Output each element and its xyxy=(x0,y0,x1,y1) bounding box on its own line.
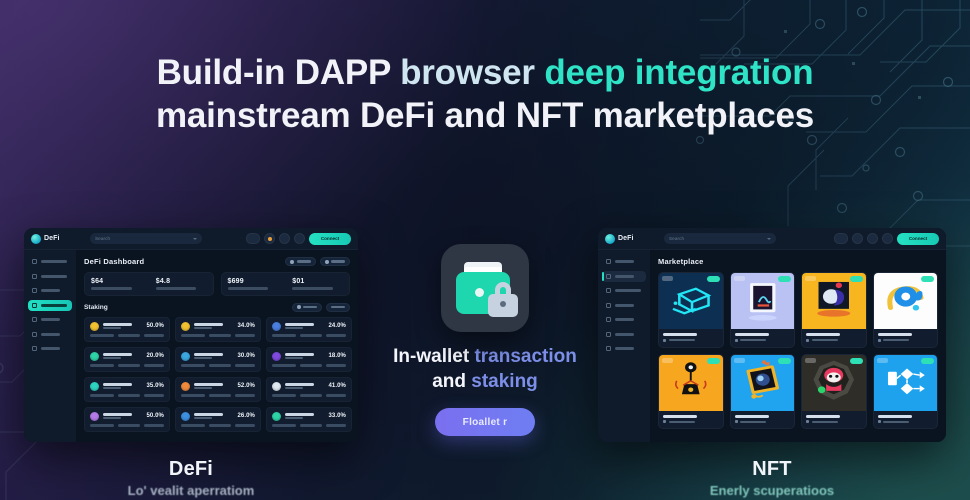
gear-icon[interactable] xyxy=(867,233,878,244)
token-names xyxy=(103,323,143,330)
sidebar-item-icon xyxy=(32,303,37,308)
nft-title xyxy=(735,333,769,336)
wallet-cta-button[interactable]: Floallet r xyxy=(435,408,535,436)
connect-label: Connect xyxy=(321,236,339,241)
token-names xyxy=(285,383,325,390)
staking-card-bottom xyxy=(272,394,346,396)
nft-grid xyxy=(658,272,938,429)
staking-card[interactable]: 35.0% xyxy=(84,377,170,402)
staking-card-bottom xyxy=(90,364,164,366)
staking-card-top: 26.0% xyxy=(181,412,255,421)
defi-body: DeFi Dashboard $64$4.8$699$01 Staking 50… xyxy=(24,250,358,442)
nft-topbar: DeFi Search Connect xyxy=(598,228,946,250)
wallet-clasp-icon xyxy=(475,288,484,297)
center-feature: In-wallet transaction and staking Floall… xyxy=(378,244,592,436)
nft-body: Marketplace xyxy=(598,250,946,442)
defi-sidebar xyxy=(24,250,76,442)
staking-card-bottom xyxy=(272,424,346,426)
sidebar-item-discover[interactable] xyxy=(28,271,72,282)
staking-card-top: 30.0% xyxy=(181,352,255,361)
sidebar-item-label xyxy=(615,275,634,278)
sidebar-item-discover[interactable] xyxy=(602,271,646,282)
nft-subtitle xyxy=(878,420,934,423)
sidebar-item-label xyxy=(615,260,634,263)
brand-name: DeFi xyxy=(44,235,60,242)
headline: Build-in DAPP browser deep integration m… xyxy=(0,52,970,137)
sidebar-item-icon xyxy=(606,288,611,293)
logo-icon xyxy=(31,234,41,244)
staking-card[interactable]: 20.0% xyxy=(84,347,170,372)
search-placeholder: Search xyxy=(95,236,110,241)
stat-item: $01 xyxy=(292,278,343,290)
staking-card-top: 34.0% xyxy=(181,322,255,331)
token-names xyxy=(103,383,143,390)
globe-icon[interactable] xyxy=(852,233,863,244)
sidebar-item-overview[interactable] xyxy=(602,256,646,267)
nft-meta xyxy=(874,329,938,347)
defi-stats: $64$4.8$699$01 xyxy=(84,272,350,296)
nft-subtitle xyxy=(663,420,719,423)
nft-meta xyxy=(731,329,795,347)
token-names xyxy=(194,383,234,390)
staking-card-top: 50.0% xyxy=(90,412,164,421)
token-icon xyxy=(272,352,281,361)
sidebar-item-icon xyxy=(606,346,611,351)
nft-artwork xyxy=(874,273,938,329)
token-icon xyxy=(90,412,99,421)
staking-apy: 20.0% xyxy=(146,353,164,359)
sidebar-item-staking[interactable] xyxy=(28,300,72,311)
staking-card-top: 24.0% xyxy=(272,322,346,331)
staking-apy: 24.0% xyxy=(328,323,346,329)
defi-head-buttons xyxy=(285,257,350,266)
staking-card-bottom xyxy=(90,424,164,426)
search-placeholder: Search xyxy=(669,236,684,241)
nft-type-tag xyxy=(805,276,816,281)
nft-price-badge xyxy=(778,276,791,282)
stat-item: $699 xyxy=(228,278,279,290)
connect-label: Connect xyxy=(909,236,927,241)
connect-wallet-button[interactable]: Connect xyxy=(897,233,939,245)
sidebar-item-icon xyxy=(32,288,37,293)
staking-card[interactable]: 34.0% xyxy=(175,317,261,342)
nft-card[interactable] xyxy=(730,354,796,430)
token-icon xyxy=(181,412,190,421)
sidebar-item-trade[interactable] xyxy=(28,285,72,296)
nft-caption: NFT Enerly scuperatioos xyxy=(598,458,946,498)
nft-subtitle xyxy=(663,339,719,342)
staking-card[interactable]: 18.0% xyxy=(266,347,352,372)
nft-artwork xyxy=(659,273,723,329)
sidebar-item-label xyxy=(615,347,634,350)
sidebar-item-transactions[interactable] xyxy=(28,343,72,354)
defi-search-input[interactable]: Search xyxy=(90,233,202,244)
staking-apy: 35.0% xyxy=(146,383,164,389)
staking-card[interactable]: 26.0% xyxy=(175,407,261,432)
nft-subtitle xyxy=(878,339,934,342)
staking-apy: 30.0% xyxy=(237,353,255,359)
nft-price-badge xyxy=(850,358,863,364)
staking-card-top: 33.0% xyxy=(272,412,346,421)
token-names xyxy=(285,353,325,360)
nft-card[interactable] xyxy=(801,354,867,430)
promo-banner: Build-in DAPP browser deep integration m… xyxy=(0,0,970,500)
token-names xyxy=(285,413,325,420)
sidebar-item-dashboard[interactable] xyxy=(602,300,646,311)
defi-topbar: DeFi Search Connect xyxy=(24,228,358,250)
nft-artwork xyxy=(731,273,795,329)
token-icon xyxy=(181,382,190,391)
nft-title xyxy=(735,415,769,418)
center-caption: In-wallet transaction and staking xyxy=(378,345,592,394)
headline-line-1: Build-in DAPP browser deep integration xyxy=(0,52,970,95)
nft-type-tag xyxy=(877,358,888,363)
staking-card-bottom xyxy=(90,334,164,336)
staking-apy: 18.0% xyxy=(328,353,346,359)
staking-apy: 41.0% xyxy=(328,383,346,389)
nft-title xyxy=(806,415,840,418)
sidebar-item-label xyxy=(41,347,60,350)
chevron-down-icon xyxy=(193,238,197,240)
center-text-in-wallet: In-wallet xyxy=(393,346,474,367)
sidebar-item-label xyxy=(615,289,641,292)
connect-wallet-button[interactable]: Connect xyxy=(309,233,351,245)
nft-marketplace-panel[interactable]: DeFi Search Connect Marketplace xyxy=(598,228,946,442)
defi-section-buttons xyxy=(292,303,351,312)
token-icon xyxy=(181,322,190,331)
defi-section-head: Staking xyxy=(84,303,350,312)
page-title: Marketplace xyxy=(658,257,704,266)
token-icon xyxy=(181,352,190,361)
nft-caption-subtitle: Enerly scuperatioos xyxy=(598,483,946,498)
wallet-cta-label: Floallet r xyxy=(463,417,508,428)
nft-card[interactable] xyxy=(658,272,724,348)
nft-artwork xyxy=(802,355,866,411)
sidebar-item-label xyxy=(41,318,60,321)
token-icon xyxy=(90,352,99,361)
nft-artwork xyxy=(802,273,866,329)
stat-item: $4.8 xyxy=(156,278,207,290)
nft-price-badge xyxy=(921,276,934,282)
nft-price-badge xyxy=(707,276,720,282)
nft-type-tag xyxy=(734,358,745,363)
nft-content-head: Marketplace xyxy=(658,257,938,266)
nft-title xyxy=(806,333,840,336)
nft-content: Marketplace xyxy=(650,250,946,442)
stat-item: $64 xyxy=(91,278,142,290)
staking-card-bottom xyxy=(181,364,255,366)
page-title: DeFi Dashboard xyxy=(84,257,144,266)
staking-card-top: 52.0% xyxy=(181,382,255,391)
defi-brand[interactable]: DeFi xyxy=(31,234,83,244)
staking-apy: 26.0% xyxy=(237,413,255,419)
nft-price-badge xyxy=(778,358,791,364)
nft-meta xyxy=(802,411,866,429)
nft-subtitle xyxy=(735,339,791,342)
defi-topbar-actions: Connect xyxy=(246,233,351,245)
wallet-lock-icon xyxy=(441,244,529,332)
staking-card-bottom xyxy=(181,424,255,426)
defi-content: DeFi Dashboard $64$4.8$699$01 Staking 50… xyxy=(76,250,358,442)
nft-title xyxy=(663,415,697,418)
staking-card-top: 18.0% xyxy=(272,352,346,361)
nft-title xyxy=(878,415,912,418)
sidebar-item-label xyxy=(615,333,634,336)
gear-icon[interactable] xyxy=(279,233,290,244)
menu-icon[interactable] xyxy=(834,233,848,244)
sidebar-item-marketplace[interactable] xyxy=(28,314,72,325)
nft-subtitle xyxy=(806,339,862,342)
chevron-down-icon xyxy=(767,238,771,240)
nft-title xyxy=(663,333,697,336)
sidebar-item-label xyxy=(615,318,634,321)
defi-caption-subtitle: Lo' vealit aperratiom xyxy=(24,483,358,498)
nft-caption-title: NFT xyxy=(598,458,946,481)
staking-card-top: 41.0% xyxy=(272,382,346,391)
nft-title xyxy=(878,333,912,336)
stat-label xyxy=(292,287,333,290)
token-names xyxy=(194,353,234,360)
sort-button[interactable] xyxy=(326,303,350,312)
sidebar-item-collections[interactable] xyxy=(602,314,646,325)
sidebar-item-label xyxy=(41,333,60,336)
sidebar-item-icon xyxy=(606,303,611,308)
nft-topbar-actions: Connect xyxy=(834,233,939,245)
staking-apy: 33.0% xyxy=(328,413,346,419)
token-names xyxy=(194,323,234,330)
lock-keyhole-icon xyxy=(500,301,506,307)
sidebar-item-icon xyxy=(32,274,37,279)
sidebar-item-label xyxy=(615,304,634,307)
center-text-and: and xyxy=(432,371,471,392)
sidebar-item-label xyxy=(41,260,67,263)
token-icon xyxy=(90,382,99,391)
nft-type-tag xyxy=(805,358,816,363)
defi-content-head: DeFi Dashboard xyxy=(84,257,350,266)
nft-subtitle xyxy=(735,420,791,423)
notification-icon[interactable] xyxy=(264,233,275,244)
stat-value: $699 xyxy=(228,278,279,285)
headline-part-deep-integration: deep integration xyxy=(544,53,813,92)
stat-box: $699$01 xyxy=(221,272,351,296)
nft-brand[interactable]: DeFi xyxy=(605,234,657,244)
sidebar-item-icon xyxy=(32,259,37,264)
headline-part-browser: browser xyxy=(400,53,544,92)
staking-apy: 50.0% xyxy=(146,413,164,419)
sidebar-item-icon xyxy=(32,317,37,322)
sidebar-item-icon xyxy=(32,332,37,337)
stat-value: $01 xyxy=(292,278,343,285)
sidebar-item-label xyxy=(41,275,67,278)
stat-value: $4.8 xyxy=(156,278,207,285)
headline-line-2: mainstream DeFi and NFT marketplaces xyxy=(0,95,970,138)
nft-price-badge xyxy=(707,358,720,364)
info-button[interactable] xyxy=(285,257,316,266)
staking-card[interactable]: 24.0% xyxy=(266,317,352,342)
nft-artwork xyxy=(659,355,723,411)
staking-card[interactable]: 41.0% xyxy=(266,377,352,402)
staking-card[interactable]: 50.0% xyxy=(84,407,170,432)
filter-button[interactable] xyxy=(320,257,351,266)
sidebar-item-label xyxy=(41,304,67,307)
staking-card-top: 20.0% xyxy=(90,352,164,361)
defi-caption-title: DeFi xyxy=(24,458,358,481)
nft-type-tag xyxy=(877,276,888,281)
staking-apy: 50.0% xyxy=(146,323,164,329)
token-names xyxy=(285,323,325,330)
staking-card-bottom xyxy=(181,394,255,396)
staking-card[interactable]: 52.0% xyxy=(175,377,261,402)
stat-label xyxy=(156,287,197,290)
staking-card-bottom xyxy=(272,364,346,366)
nft-type-tag xyxy=(662,276,673,281)
token-icon xyxy=(272,412,281,421)
nft-meta xyxy=(659,329,723,347)
logo-icon xyxy=(605,234,615,244)
sidebar-item-my-stats[interactable] xyxy=(602,329,646,340)
nft-artwork xyxy=(731,355,795,411)
staking-card-bottom xyxy=(90,394,164,396)
stat-box: $64$4.8 xyxy=(84,272,214,296)
nft-card[interactable] xyxy=(801,272,867,348)
nft-card[interactable] xyxy=(730,272,796,348)
stat-label xyxy=(228,287,269,290)
token-icon xyxy=(272,382,281,391)
stat-label xyxy=(91,287,132,290)
nft-card[interactable] xyxy=(873,272,939,348)
stat-value: $64 xyxy=(91,278,142,285)
sidebar-item-assets[interactable] xyxy=(602,285,646,296)
nft-meta xyxy=(802,329,866,347)
defi-dashboard-panel[interactable]: DeFi Search Connect DeFi Dashboard xyxy=(24,228,358,442)
staking-grid: 50.0%34.0%24.0%20.0%30.0%18.0%35.0%52.0%… xyxy=(84,317,350,432)
staking-card[interactable]: 30.0% xyxy=(175,347,261,372)
token-icon xyxy=(90,322,99,331)
nft-subtitle xyxy=(806,420,862,423)
nft-meta xyxy=(731,411,795,429)
nft-artwork xyxy=(874,355,938,411)
nft-type-tag xyxy=(662,358,673,363)
sidebar-item-icon xyxy=(606,274,611,279)
nft-meta xyxy=(874,411,938,429)
staking-apy: 34.0% xyxy=(237,323,255,329)
token-names xyxy=(194,413,234,420)
sidebar-item-icon xyxy=(606,317,611,322)
staking-card[interactable]: 33.0% xyxy=(266,407,352,432)
center-text-staking: staking xyxy=(471,371,538,392)
token-names xyxy=(103,353,143,360)
defi-caption: DeFi Lo' vealit aperratiom xyxy=(24,458,358,498)
avatar[interactable] xyxy=(294,233,305,244)
headline-part-build-in: Build-in DAPP xyxy=(157,53,401,92)
avatar[interactable] xyxy=(882,233,893,244)
nft-card[interactable] xyxy=(658,354,724,430)
staking-card-bottom xyxy=(181,334,255,336)
nft-card[interactable] xyxy=(873,354,939,430)
nft-price-badge xyxy=(921,358,934,364)
sidebar-item-icon xyxy=(32,346,37,351)
sidebar-item-overview[interactable] xyxy=(28,256,72,267)
section-title: Staking xyxy=(84,304,108,311)
brand-name: DeFi xyxy=(618,235,634,242)
sidebar-item-transactions[interactable] xyxy=(602,343,646,354)
staking-card-bottom xyxy=(272,334,346,336)
sidebar-item-icon xyxy=(606,332,611,337)
nft-search-input[interactable]: Search xyxy=(664,233,776,244)
sidebar-item-my-stats[interactable] xyxy=(28,329,72,340)
nft-type-tag xyxy=(734,276,745,281)
center-text-transaction: transaction xyxy=(474,346,576,367)
staking-apy: 52.0% xyxy=(237,383,255,389)
token-icon xyxy=(272,322,281,331)
nft-sidebar xyxy=(598,250,650,442)
nft-price-badge xyxy=(850,276,863,282)
staking-card-top: 50.0% xyxy=(90,322,164,331)
staking-card-top: 35.0% xyxy=(90,382,164,391)
staking-card[interactable]: 50.0% xyxy=(84,317,170,342)
grid-view-button[interactable] xyxy=(292,303,323,312)
sidebar-item-icon xyxy=(606,259,611,264)
sidebar-item-label xyxy=(41,289,60,292)
token-names xyxy=(103,413,143,420)
nft-meta xyxy=(659,411,723,429)
menu-icon[interactable] xyxy=(246,233,260,244)
